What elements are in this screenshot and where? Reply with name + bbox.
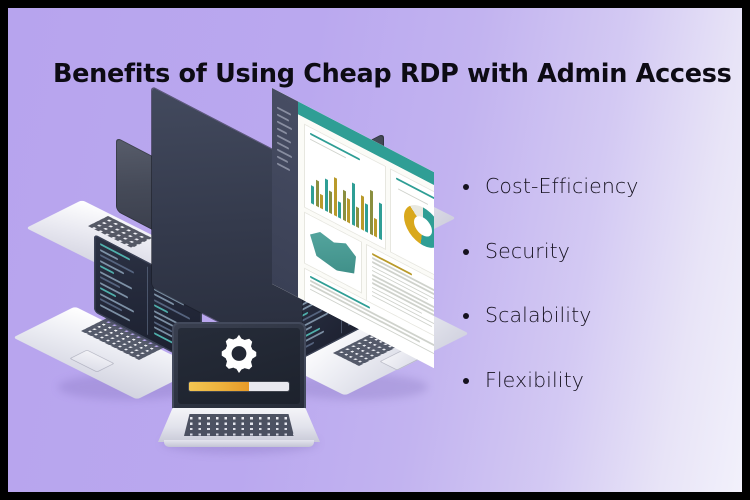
list-item-cost-efficiency: Cost-Efficiency xyxy=(455,176,735,197)
list-item-security: Security xyxy=(455,241,735,262)
benefit-label: Security xyxy=(485,239,570,263)
poster-background: Benefits of Using Cheap RDP with Admin A… xyxy=(8,8,742,492)
dashboard-sidebar xyxy=(272,88,298,298)
benefit-label: Flexibility xyxy=(485,368,584,392)
laptop-screen xyxy=(178,328,300,404)
benefits-list: Cost-Efficiency Security Scalability Fle… xyxy=(455,176,735,390)
donut-chart xyxy=(404,198,434,256)
list-item-flexibility: Flexibility xyxy=(455,370,735,391)
progress-bar-fill xyxy=(189,382,249,391)
editor-divider xyxy=(147,266,148,335)
isometric-network-illustration xyxy=(32,126,444,456)
laptop-keyboard xyxy=(184,414,294,436)
poster-canvas: Benefits of Using Cheap RDP with Admin A… xyxy=(0,0,750,500)
laptop-gear-front xyxy=(158,322,320,448)
gear-icon xyxy=(217,332,261,381)
progress-bar xyxy=(189,382,289,391)
benefit-label: Scalability xyxy=(485,303,591,327)
page-title: Benefits of Using Cheap RDP with Admin A… xyxy=(53,60,713,89)
code-column-left xyxy=(100,243,144,332)
list-item-scalability: Scalability xyxy=(455,305,735,326)
laptop-lid xyxy=(172,322,306,410)
benefit-label: Cost-Efficiency xyxy=(485,174,639,198)
laptop-front-edge xyxy=(164,440,314,447)
